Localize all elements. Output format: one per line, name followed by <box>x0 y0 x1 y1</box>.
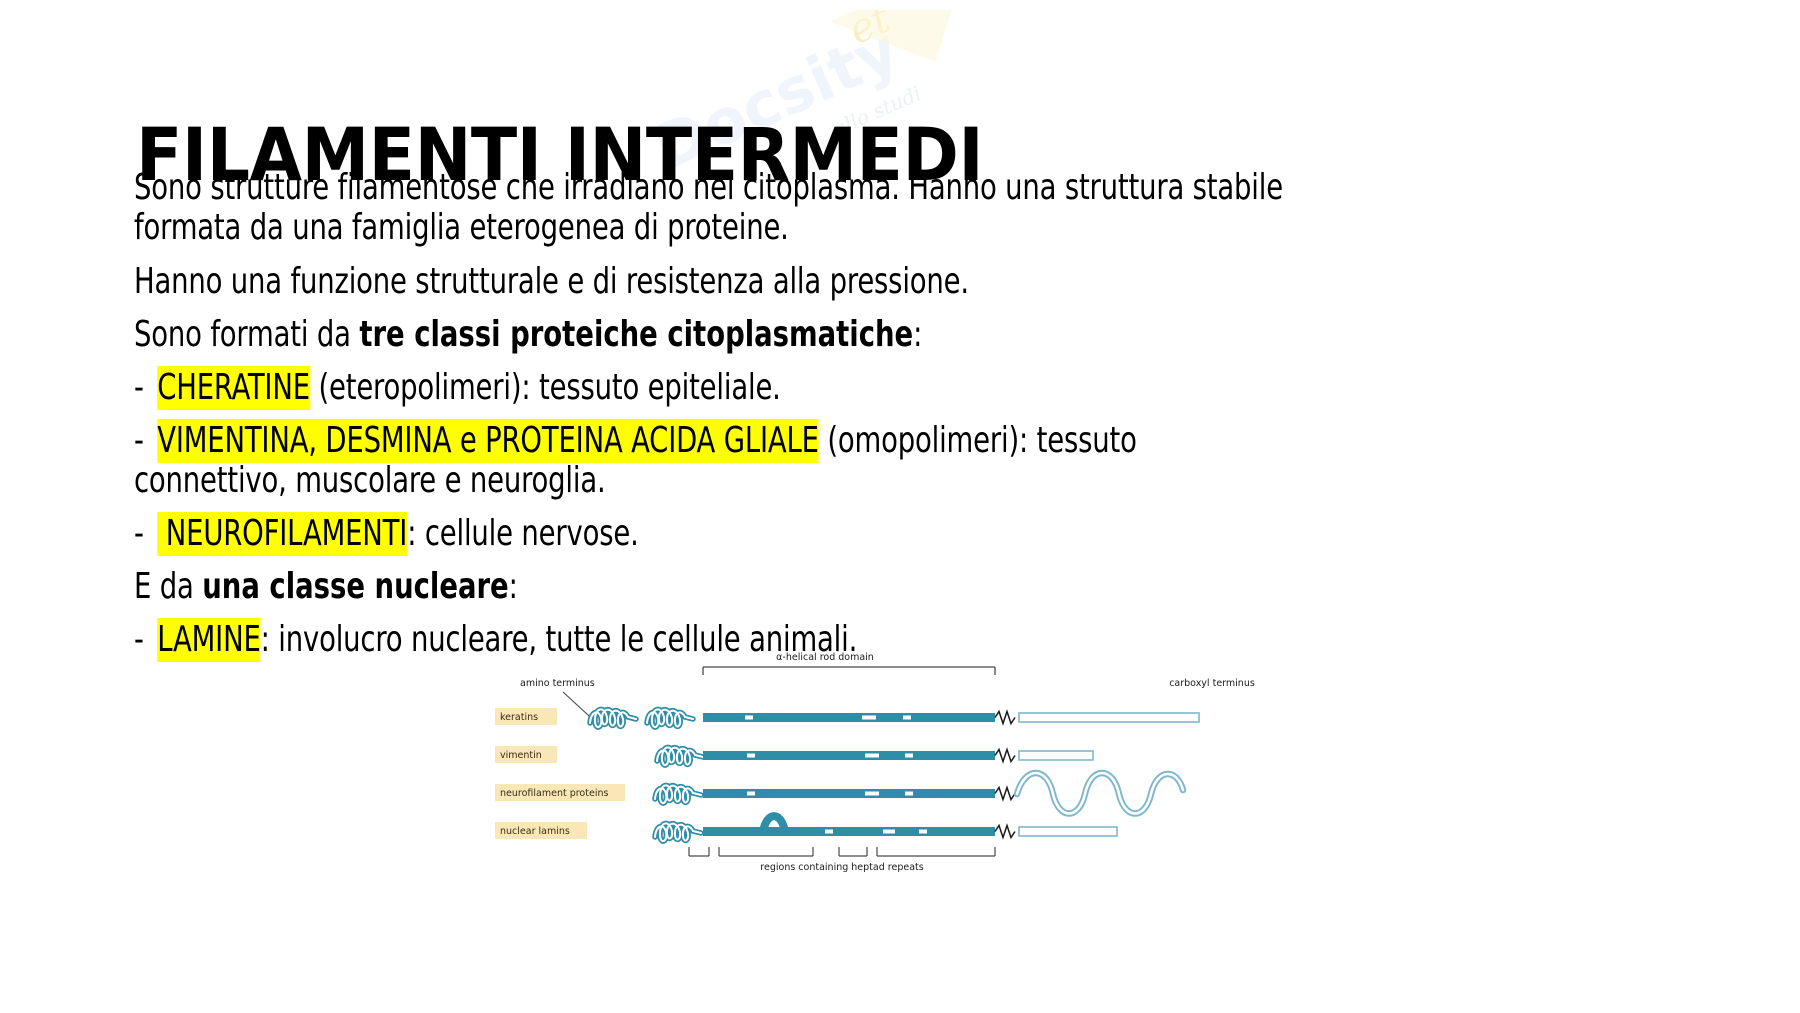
bullet-highlight-neurofilamenti: NEUROFILAMENTI <box>157 512 407 556</box>
amino-terminus-label: amino terminus <box>520 678 595 689</box>
row-label-nuclear-lamins: nuclear lamins <box>500 826 570 837</box>
bullet-highlight-lamine: LAMINE <box>157 618 260 662</box>
paragraph-intro: Sono strutture filamentose che irradiano… <box>134 168 1476 248</box>
bullet-continuation-vimentina: connettivo, muscolare e neuroglia. <box>134 460 606 501</box>
paragraph-intro-line2: formata da una famiglia eterogenea di pr… <box>134 207 789 248</box>
row-label-keratins: keratins <box>500 712 538 723</box>
bullet-vimentina: -VIMENTINA, DESMINA e PROTEINA ACIDA GLI… <box>134 421 1476 501</box>
paragraph-three-classes: Sono formati da tre classi proteiche cit… <box>134 315 1476 355</box>
paragraph-three-classes-post: : <box>913 314 922 355</box>
bottom-brackets <box>689 847 995 856</box>
paragraph-nuclear-class: E da una classe nucleare: <box>134 567 1476 607</box>
bullet-marker: - <box>134 620 157 660</box>
row-vimentin <box>657 747 1093 765</box>
top-bracket <box>703 667 995 675</box>
row-nuclear-lamins <box>655 816 1117 841</box>
row-label-vimentin: vimentin <box>500 750 542 761</box>
slide-body: Sono strutture filamentose che irradiano… <box>134 168 1694 676</box>
bullet-highlight-cheratine: CHERATINE <box>157 366 310 410</box>
bullet-neurofilamenti: - NEUROFILAMENTI: cellule nervose. <box>134 514 1476 554</box>
paragraph-three-classes-bold: tre classi proteiche citoplasmatiche <box>359 314 913 355</box>
carboxyl-terminus-label: carboxyl terminus <box>1169 678 1255 689</box>
bullet-highlight-vimentina: VIMENTINA, DESMINA e PROTEINA ACIDA GLIA… <box>157 419 819 463</box>
top-bracket-label: α-helical rod domain <box>776 652 874 663</box>
paragraph-three-classes-pre: Sono formati da <box>134 314 359 355</box>
paragraph-intro-line1: Sono strutture filamentose che irradiano… <box>134 167 1283 208</box>
bullet-rest-cheratine: (eteropolimeri): tessuto epiteliale. <box>310 367 781 408</box>
bullet-marker: - <box>134 421 157 461</box>
paragraph-nuclear-class-pre: E da <box>134 566 202 607</box>
bullet-cheratine: -CHERATINE (eteropolimeri): tessuto epit… <box>134 368 1476 408</box>
row-keratins <box>590 709 1199 727</box>
bullet-marker: - <box>134 368 157 408</box>
intermediate-filament-domain-diagram: α-helical rod domain amino terminus carb… <box>495 648 1305 873</box>
bottom-bracket-label: regions containing heptad repeats <box>760 862 923 873</box>
bullet-rest-neurofilamenti: : cellule nervose. <box>407 513 638 554</box>
paragraph-function: Hanno una funzione strutturale e di resi… <box>134 262 1476 302</box>
paragraph-nuclear-class-post: : <box>509 566 518 607</box>
slide-canvas: FILAMENTI INTERMEDI Sono strutture filam… <box>0 0 1800 1013</box>
row-neurofilament-proteins <box>655 773 1183 814</box>
row-label-neurofilament-proteins: neurofilament proteins <box>500 788 608 799</box>
bullet-marker: - <box>134 514 157 554</box>
bullet-rest-vimentina: (omopolimeri): tessuto <box>819 420 1137 461</box>
paragraph-nuclear-class-bold: una classe nucleare <box>202 566 508 607</box>
